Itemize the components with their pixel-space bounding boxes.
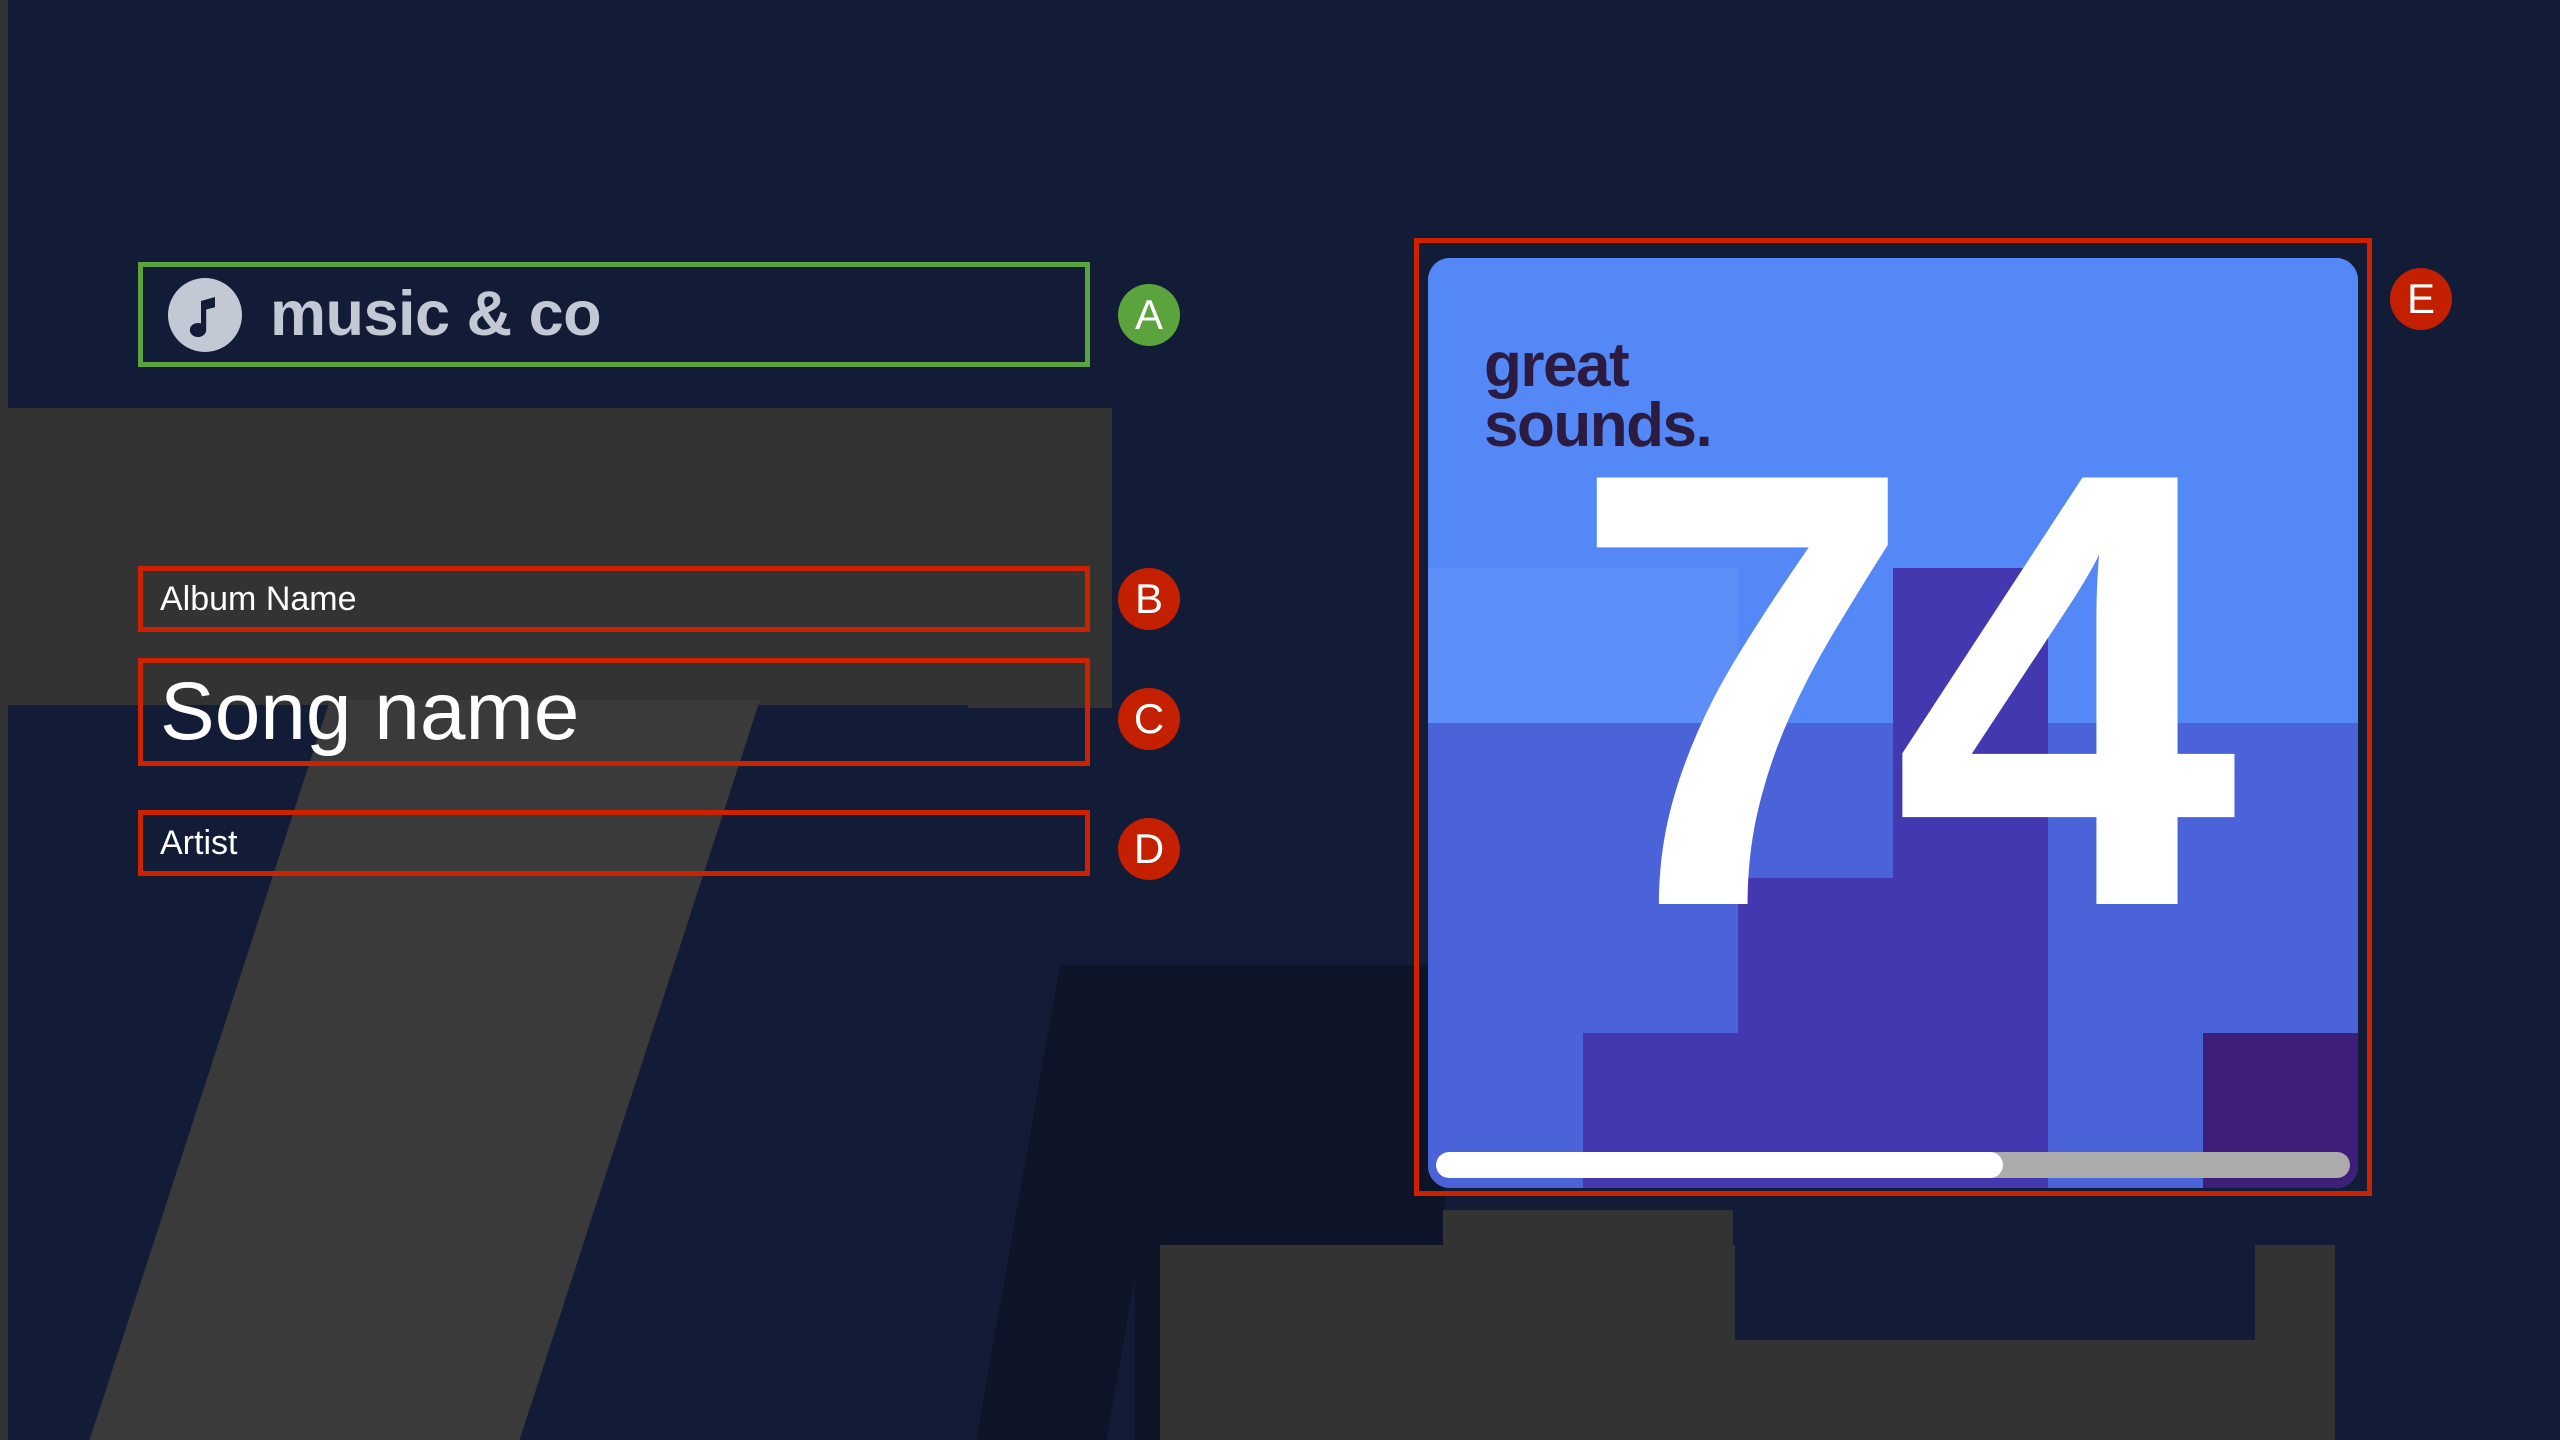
brand-header[interactable]: music & co: [138, 262, 1090, 367]
album-art[interactable]: great sounds. 74: [1428, 258, 2358, 1188]
album-name-field[interactable]: Album Name: [138, 566, 1090, 632]
annotation-badge-e: E: [2390, 268, 2452, 330]
album-name-label: Album Name: [160, 582, 357, 616]
app-screen: music & co Album Name Song name Artist g…: [0, 0, 2560, 1440]
annotation-badge-d: D: [1118, 818, 1180, 880]
playback-progress-fill: [1436, 1152, 2003, 1178]
artist-label: Artist: [160, 826, 237, 860]
playback-progress-bar[interactable]: [1436, 1152, 2350, 1178]
music-note-icon: [168, 278, 242, 352]
artist-field[interactable]: Artist: [138, 810, 1090, 876]
album-art-canvas: great sounds. 74: [1428, 258, 2358, 1188]
background-four-glyph-stem: [1443, 1210, 1733, 1440]
annotation-badge-c: C: [1118, 688, 1180, 750]
album-art-number: 74: [1428, 380, 2358, 1000]
annotation-badge-a: A: [1118, 284, 1180, 346]
background-right-navy-block: [1735, 1210, 2255, 1340]
brand-name-label: music & co: [270, 283, 601, 346]
song-name-label: Song name: [160, 671, 579, 753]
annotation-badge-b: B: [1118, 568, 1180, 630]
background-far-right-edge: [2335, 0, 2560, 1440]
song-name-field[interactable]: Song name: [138, 658, 1090, 766]
background-edge-strip: [0, 0, 8, 1440]
